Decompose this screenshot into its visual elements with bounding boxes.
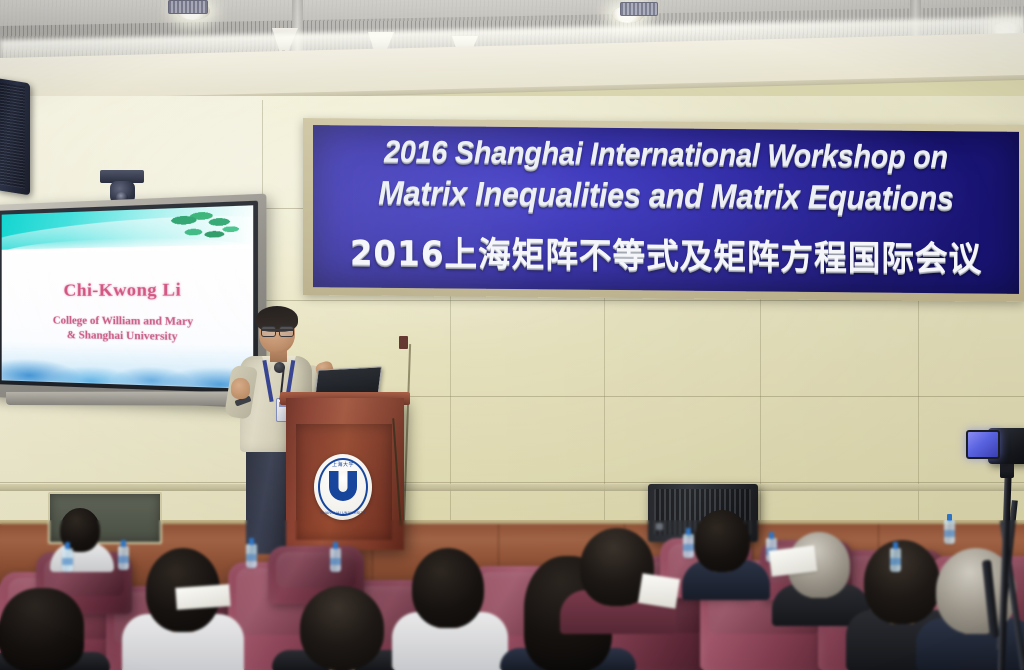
slide-speaker-name: Chi-Kwong Li xyxy=(2,279,254,301)
wall-seam xyxy=(918,296,919,536)
wall-seam xyxy=(450,296,451,536)
water-bottle xyxy=(62,548,73,572)
banner-line-2: Matrix Inequalities and Matrix Equations xyxy=(338,173,995,217)
emblem-bottom-text: SHANGHAI UNIVERSITY xyxy=(314,511,372,515)
wall-seam xyxy=(0,482,1024,483)
water-bottle xyxy=(330,548,341,572)
display-stand xyxy=(6,391,238,405)
projection-display: Chi-Kwong Li College of William and Mary… xyxy=(0,194,266,409)
attendee-head xyxy=(0,588,84,670)
display-bezel: Chi-Kwong Li College of William and Mary… xyxy=(0,201,258,394)
attendee-head xyxy=(694,510,750,572)
banner-line-chinese: 2016上海矩阵不等式及矩阵方程国际会议 xyxy=(327,225,1005,281)
water-bottle xyxy=(118,546,129,570)
emblem-u-glyph-icon xyxy=(329,471,357,501)
ceiling-vent xyxy=(168,0,208,14)
microphone-icon xyxy=(274,362,285,373)
leaf-decoration-icon xyxy=(167,207,248,256)
conference-photo: Chi-Kwong Li College of William and Mary… xyxy=(0,0,1024,670)
slide-affiliation-line2: & Shanghai University xyxy=(67,330,178,343)
presenter-glasses-icon xyxy=(261,326,294,335)
handout-paper xyxy=(175,584,230,610)
presenter-left-hand xyxy=(231,378,250,399)
attendee-head xyxy=(864,540,940,624)
water-bottle xyxy=(890,548,901,572)
wall-outlet xyxy=(399,336,408,349)
camera-lcd-screen[interactable] xyxy=(966,430,1000,459)
water-bottle xyxy=(683,534,694,558)
seat-backrest xyxy=(276,552,356,588)
banner-line-1: 2016 Shanghai International Workshop on xyxy=(338,133,995,175)
tripod-head xyxy=(1000,462,1014,478)
banner-frame: 2016 Shanghai International Workshop on … xyxy=(303,118,1024,302)
handout-paper xyxy=(769,545,818,576)
ceiling-vent xyxy=(620,2,658,16)
wall-seam xyxy=(760,296,761,536)
wall-speaker xyxy=(0,78,30,195)
university-emblem: 上海大学 SHANGHAI UNIVERSITY xyxy=(314,454,372,520)
attendee-head xyxy=(300,586,384,670)
presentation-slide: Chi-Kwong Li College of William and Mary… xyxy=(2,205,254,389)
water-bottle xyxy=(944,520,955,544)
presenter-glasses-bridge xyxy=(261,329,294,331)
wall-seam xyxy=(604,296,605,536)
emblem-top-text: 上海大学 xyxy=(314,461,372,468)
water-bottle xyxy=(246,544,257,568)
attendee-head xyxy=(412,548,484,628)
handout-paper xyxy=(638,573,680,609)
slide-watercolor-splash xyxy=(2,342,254,389)
slide-affiliation-line1: College of William and Mary xyxy=(53,315,193,328)
conference-banner: 2016 Shanghai International Workshop on … xyxy=(313,125,1019,294)
wall-rail xyxy=(0,484,1024,491)
